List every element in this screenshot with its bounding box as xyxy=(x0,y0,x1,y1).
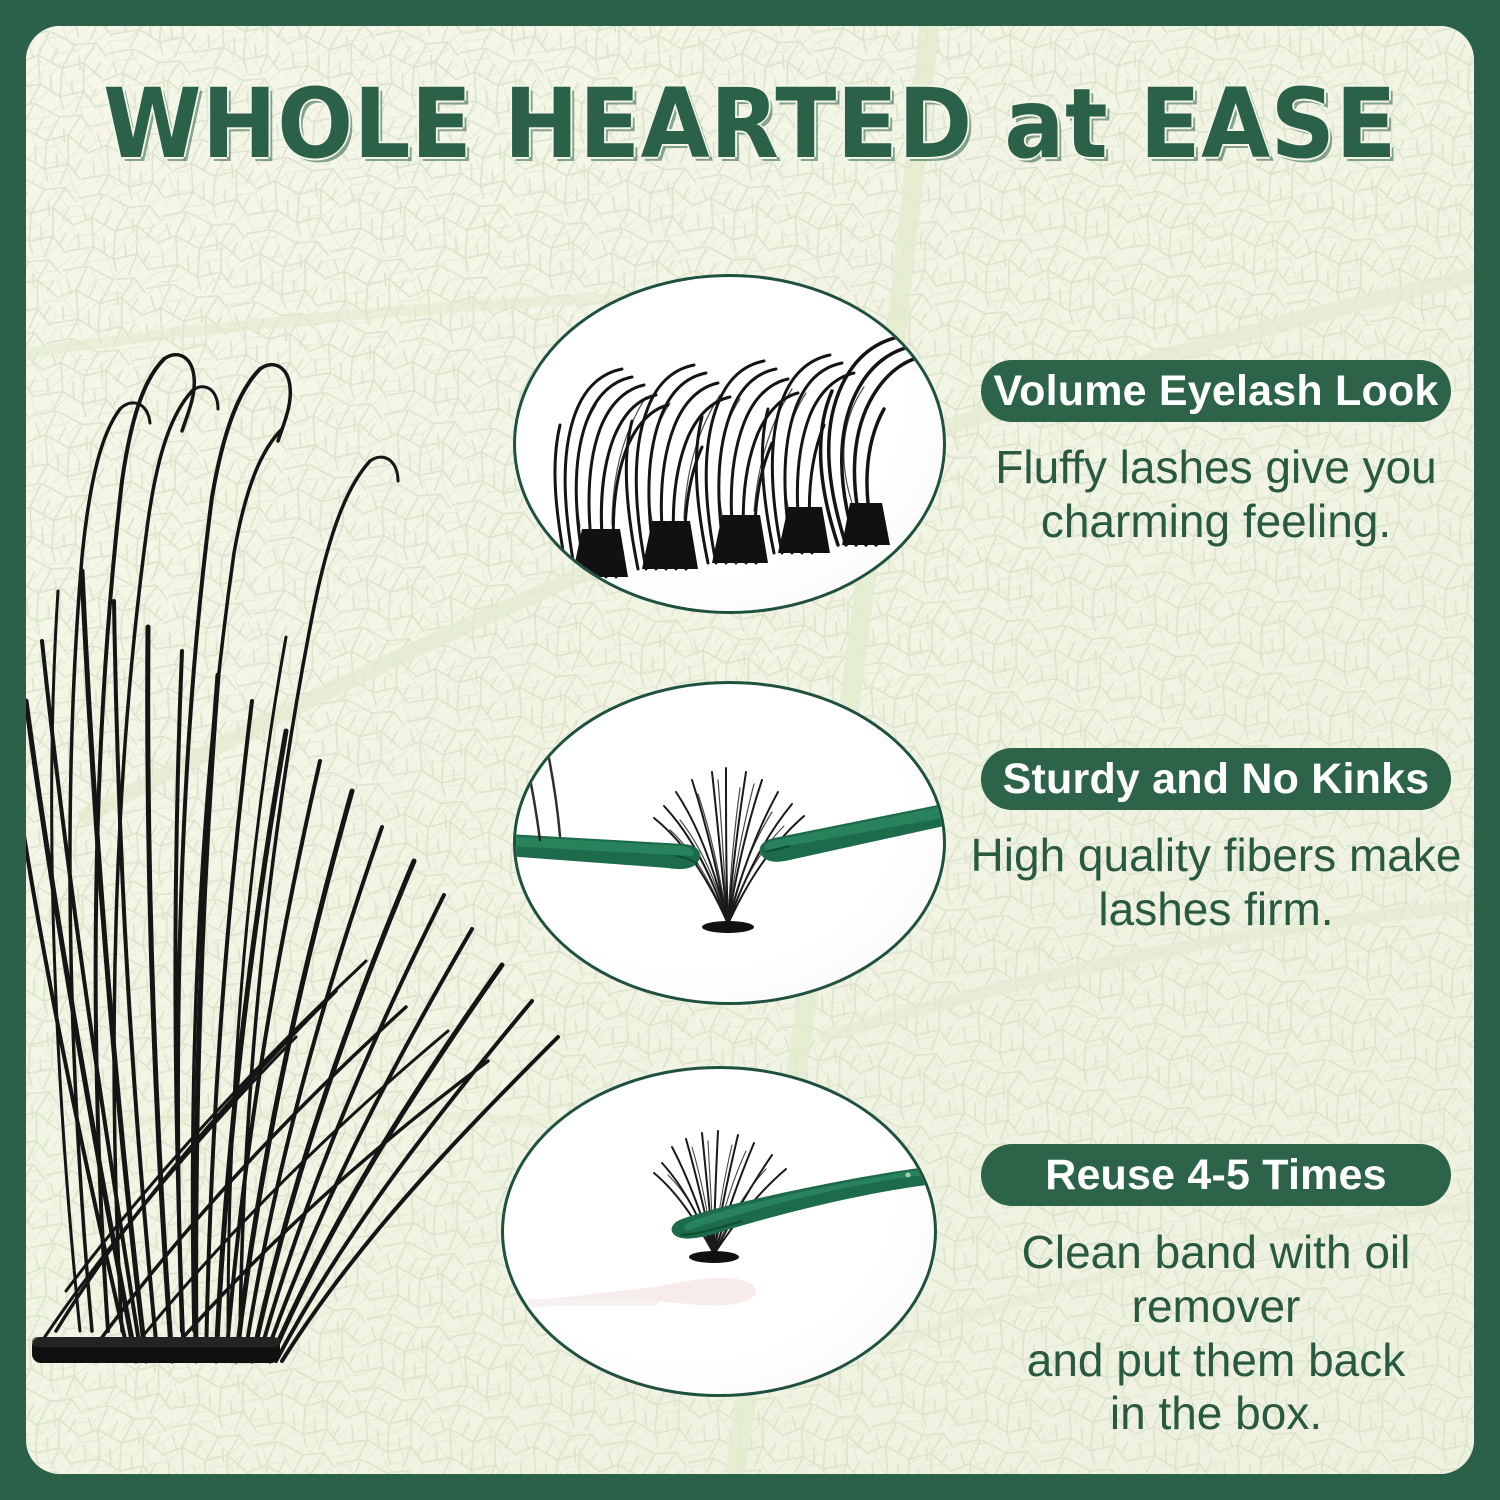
feature-1-description: Fluffy lashes give you charming feeling. xyxy=(951,441,1474,549)
poster-canvas: WHOLE HEARTED at EASE xyxy=(26,26,1474,1474)
feature-2-description: High quality fibers make lashes firm. xyxy=(951,829,1474,937)
feature-2-badge: Sturdy and No Kinks xyxy=(981,748,1451,810)
feature-1-badge: Volume Eyelash Look xyxy=(981,360,1451,422)
tweezer-with-lash-and-swab-photo xyxy=(501,1066,937,1397)
page-title: WHOLE HEARTED at EASE xyxy=(77,74,1424,175)
tweezers-pinching-lash-photo xyxy=(513,681,946,1005)
poster-frame: WHOLE HEARTED at EASE xyxy=(0,0,1500,1500)
lash-cluster-row-photo xyxy=(513,274,946,614)
feature-3-description: Clean band with oil remover and put them… xyxy=(934,1226,1474,1441)
feature-3-badge: Reuse 4-5 Times xyxy=(981,1144,1451,1206)
